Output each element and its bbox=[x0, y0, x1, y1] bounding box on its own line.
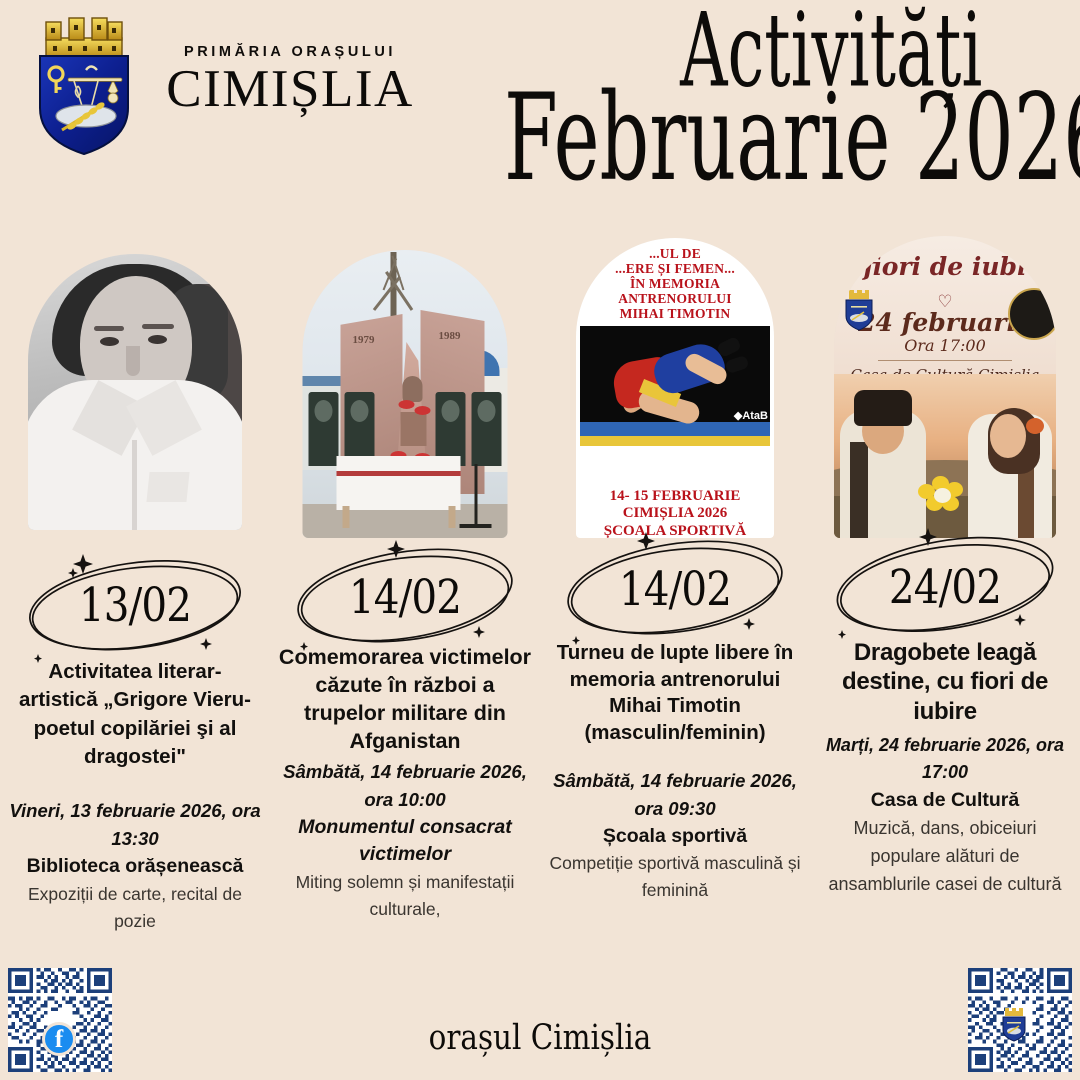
activity-description: Expoziții de carte, recital de pozie bbox=[8, 881, 262, 936]
poster-line-4: ANTRENORULUI bbox=[576, 291, 774, 306]
activity-heading: Turneu de lupte libere în memoria antren… bbox=[548, 640, 802, 747]
date-badge-label: 14/02 bbox=[298, 538, 513, 656]
date-badge: 14/02 bbox=[280, 538, 530, 656]
cimislia-coat-of-arms-icon bbox=[1000, 1008, 1028, 1042]
activity-text-block: Turneu de lupte libere în memoria antren… bbox=[540, 640, 810, 905]
activity-location: Școala sportivă bbox=[548, 823, 802, 850]
monument-year-right: 1989 bbox=[439, 330, 461, 342]
activity-datetime: Sâmbătă, 14 februarie 2026, ora 10:00 bbox=[278, 758, 532, 814]
poster-bottom-2: CIMIȘLIA 2026 bbox=[576, 505, 774, 522]
cimislia-coat-of-arms-icon bbox=[24, 8, 144, 160]
date-badge: 24/02 bbox=[820, 528, 1070, 646]
wrestling-action-photo: ◆AtaB bbox=[580, 326, 770, 446]
poster-line-2: ...ERE ȘI FEMEN... bbox=[576, 261, 774, 276]
activity-datetime: Sâmbătă, 14 februarie 2026, ora 09:30 bbox=[548, 767, 802, 823]
poster-title-block: ...UL DE ...ERE ȘI FEMEN... ÎN MEMORIA A… bbox=[576, 238, 774, 326]
activity-card: 13/02 Activitatea literar- artistică „Gr… bbox=[0, 228, 270, 1018]
activity-datetime: Vineri, 13 februarie 2026, ora 13:30 bbox=[8, 797, 262, 853]
monument-year-left: 1979 bbox=[353, 334, 375, 346]
couple-photo bbox=[834, 374, 1056, 538]
activity-datetime: Marți, 24 februarie 2026, ora 17:00 bbox=[818, 732, 1072, 787]
poster-sponsor: ◆AtaB bbox=[734, 409, 768, 422]
activities-grid: 13/02 Activitatea literar- artistică „Gr… bbox=[0, 228, 1080, 1018]
activity-text-block: Dragobete leagă destine, cu fiori de iub… bbox=[810, 638, 1080, 898]
activity-card: ...UL DE ...ERE ȘI FEMEN... ÎN MEMORIA A… bbox=[540, 228, 810, 1018]
footer-brand: orașul Cimișlia bbox=[86, 1018, 993, 1058]
poster-footer: f orașul Cimișlia bbox=[0, 950, 1080, 1080]
date-badge-label: 24/02 bbox=[838, 528, 1053, 646]
activity-location: Casa de Cultură bbox=[818, 787, 1072, 814]
poster-hour: Ora 17:00 bbox=[834, 336, 1056, 355]
poster-seal-badge bbox=[1008, 288, 1056, 340]
activity-text-block: Comemorarea victimelor căzute în război … bbox=[270, 644, 540, 923]
activity-text-block: Activitatea literar- artistică „Grigore … bbox=[0, 658, 270, 935]
date-badge: 13/02 bbox=[10, 546, 260, 664]
activity-card: 1979 1989 bbox=[270, 228, 540, 1018]
poster-line-5: MIHAI TIMOTIN bbox=[576, 306, 774, 321]
grigore-vieru-portrait-photo bbox=[28, 254, 242, 530]
poster-script-title: fiori de iubi bbox=[834, 252, 1056, 281]
activity-location: Monumentul consacrat victimelor bbox=[278, 814, 532, 869]
activity-description: Miting solemn și manifestații culturale, bbox=[278, 869, 532, 924]
activity-description: Competiție sportivă masculină și feminin… bbox=[548, 850, 802, 905]
facebook-icon[interactable]: f bbox=[42, 1022, 76, 1056]
activity-heading: Dragobete leagă destine, cu fiori de iub… bbox=[818, 638, 1072, 726]
poster-bottom-1: 14- 15 FEBRUARIE bbox=[576, 488, 774, 505]
activity-card: fiori de iubi ♡ 24 februarie Ora 17:00 C… bbox=[810, 228, 1080, 1018]
page-title: Activități Februarie 2026 bbox=[372, 14, 1032, 183]
date-badge-label: 13/02 bbox=[28, 546, 243, 664]
cimislia-coat-of-arms-icon bbox=[842, 290, 876, 332]
activity-location: Biblioteca orășenească bbox=[8, 853, 262, 880]
poster-line-3: ÎN MEMORIA bbox=[576, 276, 774, 291]
monument-victime-afganistan-photo: 1979 1989 bbox=[303, 250, 508, 538]
activity-description: Muzică, dans, obiceiuri populare alături… bbox=[818, 814, 1072, 898]
title-line-februarie: Februarie 2026 bbox=[504, 83, 1032, 194]
date-badge-label: 14/02 bbox=[568, 530, 783, 648]
poster-line-1: ...UL DE bbox=[576, 246, 774, 261]
turneu-lupte-poster-image: ...UL DE ...ERE ȘI FEMEN... ÎN MEMORIA A… bbox=[576, 238, 774, 538]
activity-heading: Comemorarea victimelor căzute în război … bbox=[278, 644, 532, 756]
poster-header: PRIMĂRIA ORAȘULUI CIMIȘLIA Activități Fe… bbox=[0, 0, 1080, 225]
date-badge: 14/02 bbox=[550, 530, 800, 648]
dragobete-poster-image: fiori de iubi ♡ 24 februarie Ora 17:00 C… bbox=[834, 236, 1056, 538]
activity-heading: Activitatea literar- artistică „Grigore … bbox=[8, 658, 262, 771]
